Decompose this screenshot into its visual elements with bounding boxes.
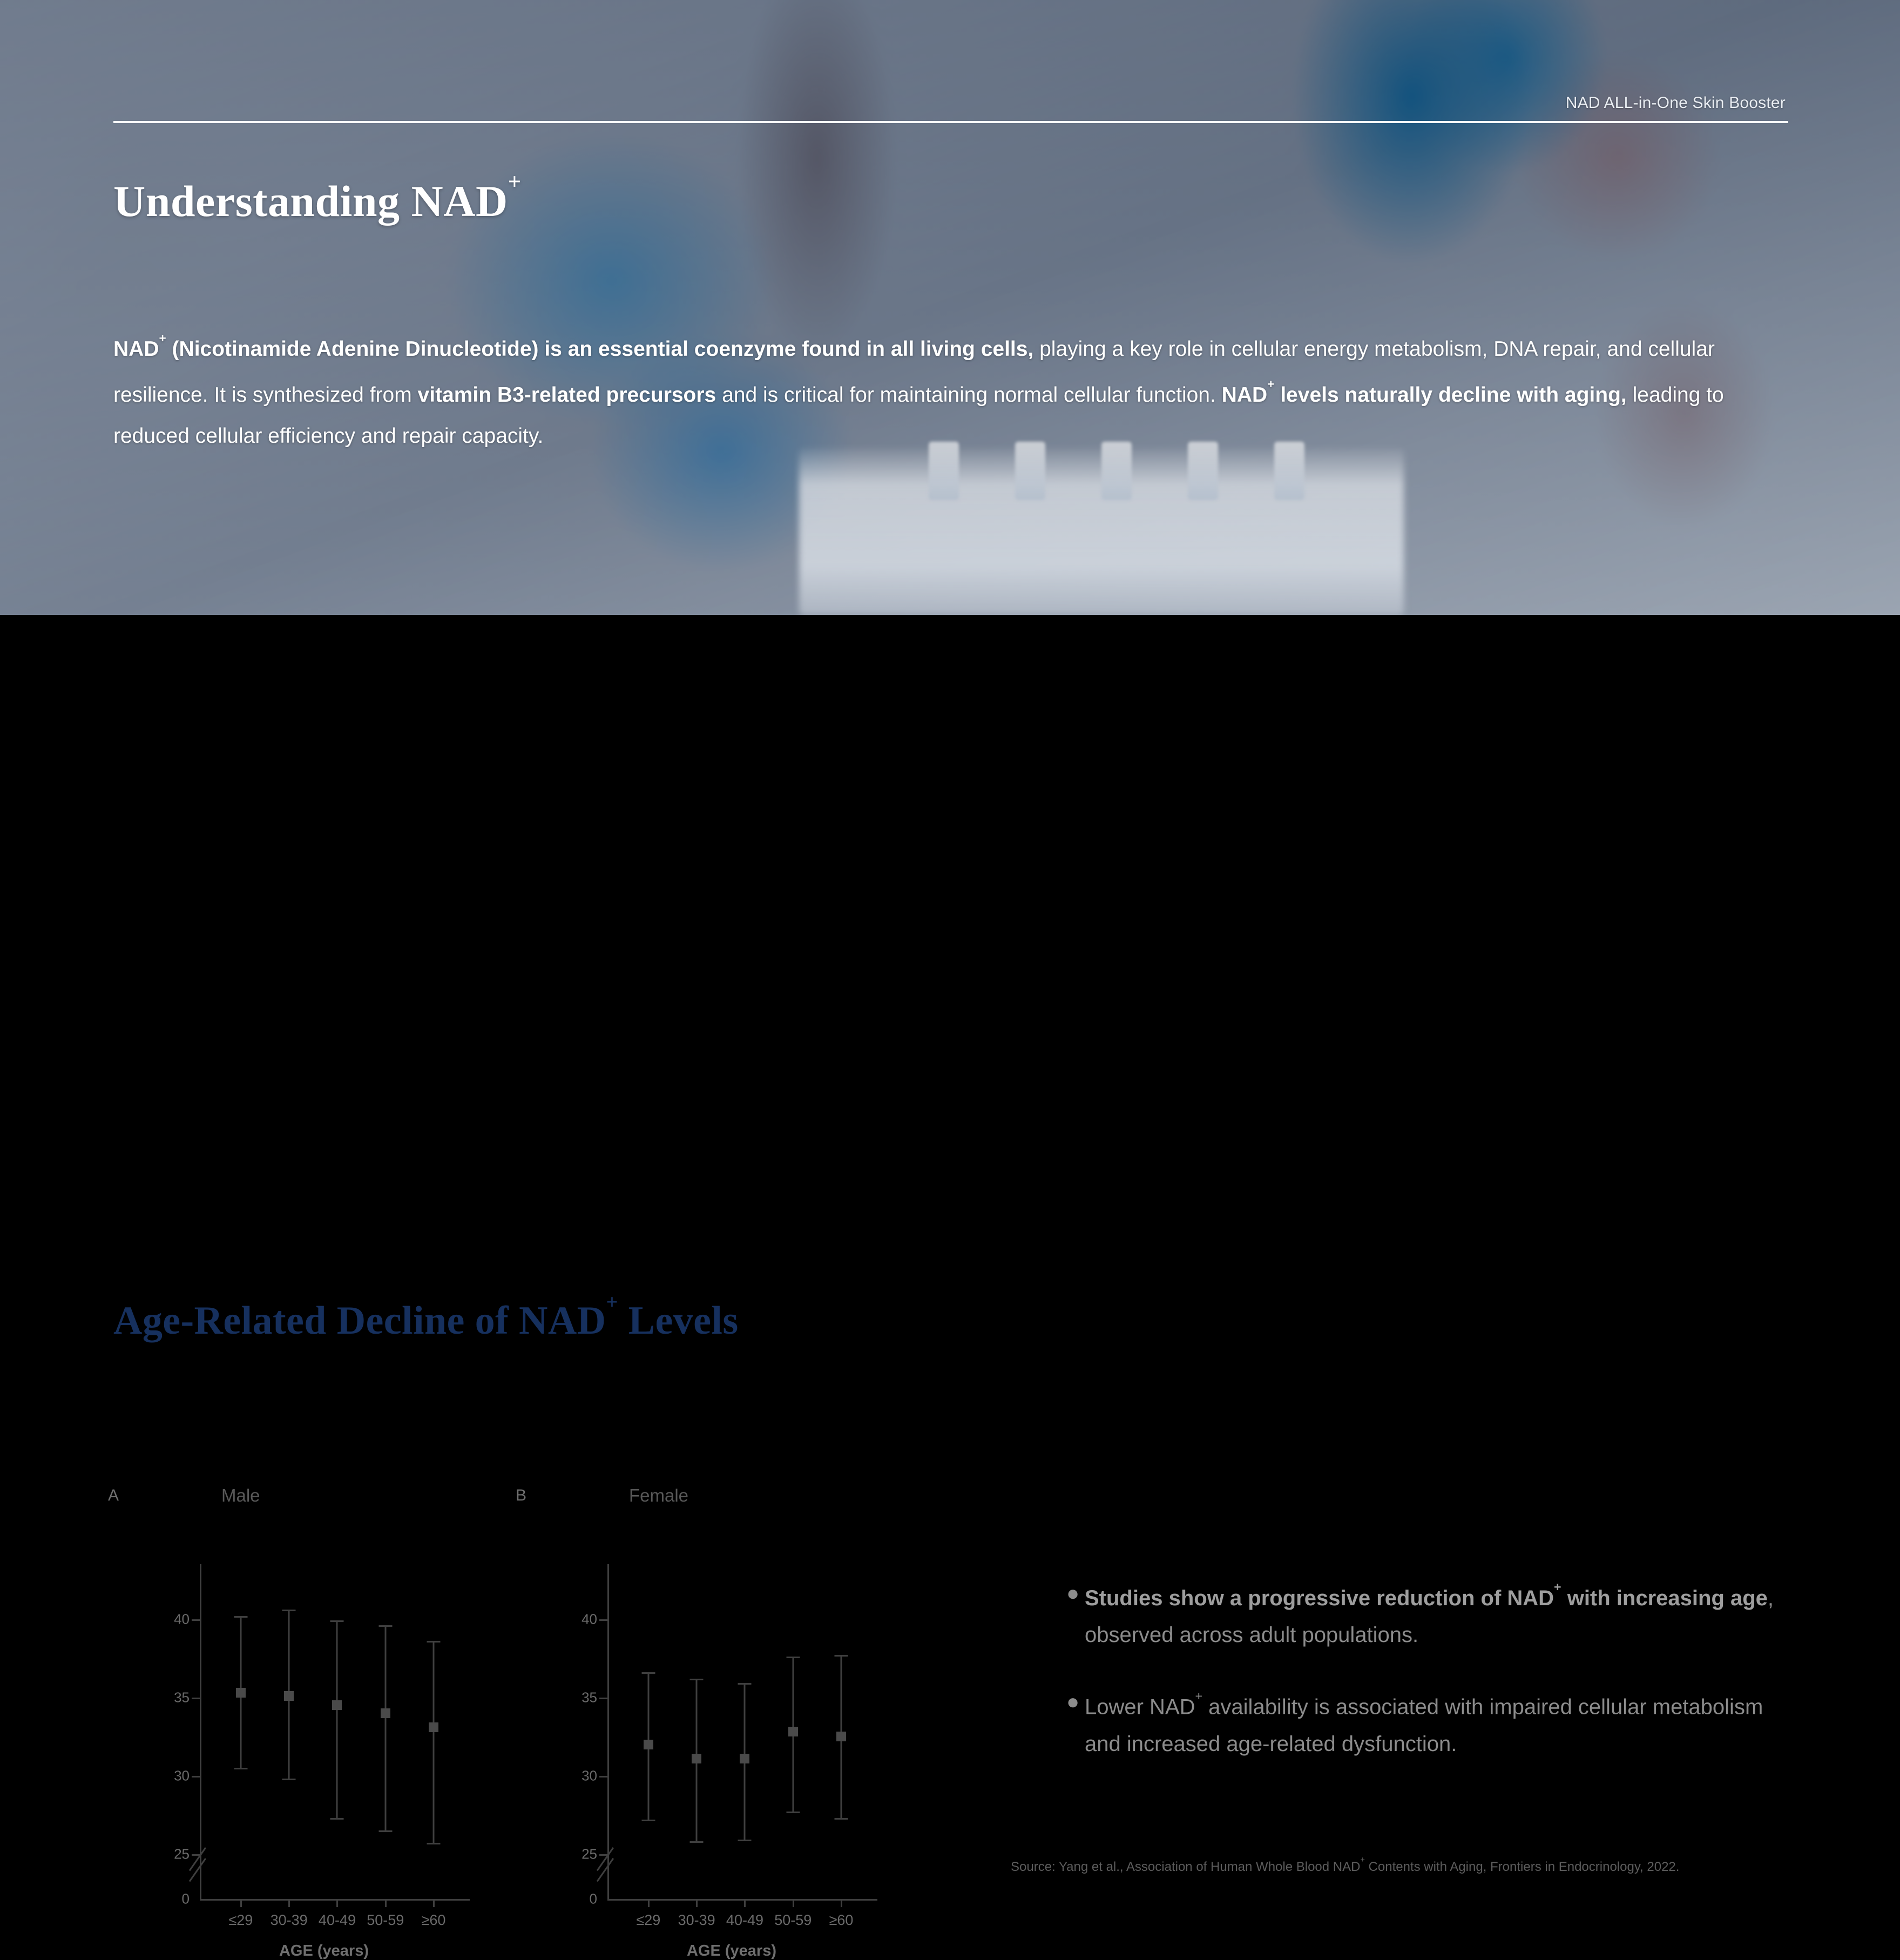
error-bar	[336, 1620, 338, 1817]
x-tick	[336, 1899, 338, 1907]
section-title: Age-Related Decline of NAD+ Levels	[113, 1298, 739, 1344]
x-tick-label: ≤29	[636, 1912, 660, 1929]
x-tick	[385, 1899, 387, 1907]
error-cap-upper	[282, 1610, 296, 1611]
hero-bold-3-cont: levels naturally decline with aging,	[1274, 383, 1626, 407]
data-point-marker	[284, 1691, 294, 1701]
y-tick-label: 40	[174, 1611, 190, 1627]
y-tick	[192, 1619, 201, 1621]
x-tick-label: 30-39	[678, 1912, 715, 1929]
x-tick-label: ≤29	[228, 1912, 253, 1929]
source-suffix: Contents with Aging, Frontiers in Endocr…	[1365, 1860, 1680, 1874]
y-tick-label: 35	[582, 1689, 597, 1706]
hero-bold-1: NAD	[113, 337, 159, 361]
data-point-marker	[332, 1700, 342, 1710]
hero-bold-2: vitamin B3-related precursors	[418, 383, 716, 407]
plot-area-male: 253035400≤2930-3940-4950-59≥60	[175, 1564, 478, 1910]
chart-panel-male: A Male 253035400≤2930-3940-4950-59≥60 AG…	[108, 1483, 518, 1958]
y-tick	[192, 1698, 201, 1699]
bullet-1-sup: +	[1554, 1580, 1561, 1594]
chart-panel-female: B Female 253035400≤2930-3940-4950-59≥60 …	[516, 1483, 926, 1958]
data-point-marker	[788, 1727, 798, 1736]
hero-bold-1-sup: +	[159, 332, 166, 345]
y-axis	[200, 1564, 201, 1899]
x-tick	[240, 1899, 242, 1907]
panel-letter-a: A	[108, 1486, 119, 1505]
y-tick	[599, 1854, 609, 1856]
error-bar	[433, 1641, 435, 1843]
x-axis-caption-female: AGE (years)	[687, 1942, 776, 1960]
brand-label: NAD ALL-in-One Skin Booster	[1566, 94, 1786, 112]
y-tick	[599, 1698, 609, 1699]
y-tick-label: 25	[582, 1846, 597, 1862]
y-tick-label: 25	[174, 1846, 190, 1862]
header-divider	[113, 121, 1788, 123]
error-cap-lower	[282, 1779, 296, 1780]
error-cap-upper	[738, 1683, 752, 1685]
key-points-list: ●Studies show a progressive reduction of…	[1066, 1575, 1801, 1793]
list-item: ●Studies show a progressive reduction of…	[1066, 1575, 1801, 1653]
source-citation: Source: Yang et al., Association of Huma…	[1011, 1855, 1804, 1876]
panel-title-male: Male	[221, 1485, 260, 1506]
x-tick-label: ≥60	[422, 1912, 446, 1929]
error-cap-upper	[835, 1655, 848, 1657]
x-tick	[841, 1899, 842, 1907]
error-cap-upper	[690, 1679, 704, 1680]
list-item: ●Lower NAD+ availability is associated w…	[1066, 1684, 1801, 1762]
x-tick-label: 40-49	[726, 1912, 763, 1929]
y-axis	[607, 1564, 609, 1899]
error-cap-upper	[641, 1672, 655, 1674]
error-cap-lower	[427, 1843, 441, 1844]
y-axis-break	[597, 1867, 621, 1891]
data-point-marker	[644, 1740, 653, 1749]
data-point-marker	[740, 1754, 749, 1763]
bullet-1-bold-cont: with increasing age	[1561, 1586, 1768, 1610]
hero-section: NAD ALL-in-One Skin Booster Understandin…	[0, 0, 1900, 615]
x-tick-label: ≥60	[829, 1912, 854, 1929]
y-axis-break	[190, 1867, 213, 1891]
page-title-superscript: +	[508, 169, 522, 194]
error-cap-upper	[786, 1657, 800, 1658]
y-tick-label: 30	[174, 1767, 190, 1784]
y-tick	[192, 1776, 201, 1777]
x-tick-label: 50-59	[367, 1912, 404, 1929]
error-cap-lower	[738, 1840, 752, 1841]
x-tick	[288, 1899, 290, 1907]
bullet-dot-icon: ●	[1066, 1684, 1079, 1720]
x-tick	[744, 1899, 746, 1907]
data-point-marker	[692, 1754, 701, 1763]
error-cap-lower	[641, 1820, 655, 1821]
panel-title-female: Female	[629, 1485, 688, 1506]
bullet-2-lead: Lower NAD	[1085, 1695, 1195, 1719]
x-tick	[696, 1899, 698, 1907]
y-tick-label: 35	[174, 1689, 190, 1706]
data-section: Age-Related Decline of NAD+ Levels A Mal…	[0, 615, 1900, 1342]
hero-bold-3-sup: +	[1267, 377, 1274, 391]
bullet-dot-icon: ●	[1066, 1575, 1079, 1612]
data-point-marker	[236, 1688, 246, 1698]
x-tick-label: 50-59	[774, 1912, 812, 1929]
y-tick	[599, 1619, 609, 1621]
hero-bold-3: NAD	[1222, 383, 1268, 407]
x-tick-label: 30-39	[271, 1912, 308, 1929]
x-tick	[793, 1899, 794, 1907]
data-point-marker	[836, 1732, 846, 1741]
error-cap-upper	[427, 1641, 441, 1643]
page-title-text: Understanding NAD	[113, 177, 508, 226]
x-tick	[648, 1899, 650, 1907]
x-axis-caption-male: AGE (years)	[279, 1942, 369, 1960]
data-point-marker	[429, 1722, 438, 1732]
error-cap-lower	[234, 1768, 247, 1769]
y-tick-label: 30	[582, 1767, 597, 1784]
bullet-2-sup: +	[1195, 1689, 1203, 1703]
source-prefix: Source: Yang et al., Association of Huma…	[1011, 1860, 1360, 1874]
x-tick	[433, 1899, 435, 1907]
section-title-superscript: +	[606, 1291, 618, 1314]
y-tick	[192, 1854, 201, 1856]
plot-area-female: 253035400≤2930-3940-4950-59≥60	[583, 1564, 885, 1910]
source-superscript: +	[1360, 1856, 1364, 1864]
page-title: Understanding NAD+	[113, 176, 521, 227]
nad-decline-figure: A Male 253035400≤2930-3940-4950-59≥60 AG…	[0, 1483, 929, 1958]
section-title-text: Age-Related Decline of NAD	[113, 1299, 606, 1343]
y-tick	[599, 1776, 609, 1777]
error-cap-lower	[786, 1812, 800, 1813]
error-cap-lower	[330, 1818, 344, 1820]
hero-text-2: and is critical for maintaining normal c…	[716, 383, 1221, 407]
error-cap-lower	[835, 1818, 848, 1820]
bullet-1-bold: Studies show a progressive reduction of …	[1085, 1586, 1554, 1610]
data-point-marker	[381, 1708, 390, 1718]
panel-letter-b: B	[516, 1486, 526, 1505]
y-tick-label: 40	[582, 1611, 597, 1627]
error-cap-upper	[378, 1625, 392, 1627]
error-cap-upper	[234, 1616, 247, 1618]
hero-paragraph: NAD+ (Nicotinamide Adenine Dinucleotide)…	[113, 324, 1794, 457]
error-cap-upper	[330, 1620, 344, 1622]
error-bar	[384, 1625, 386, 1830]
x-tick-label: 40-49	[319, 1912, 356, 1929]
section-title-tail: Levels	[618, 1299, 739, 1343]
error-cap-lower	[378, 1830, 392, 1832]
y-tick-label-zero: 0	[182, 1891, 190, 1908]
y-tick-label-zero: 0	[590, 1891, 597, 1908]
hero-bold-1-cont: (Nicotinamide Adenine Dinucleotide) is a…	[166, 337, 1034, 361]
error-cap-lower	[690, 1841, 704, 1843]
